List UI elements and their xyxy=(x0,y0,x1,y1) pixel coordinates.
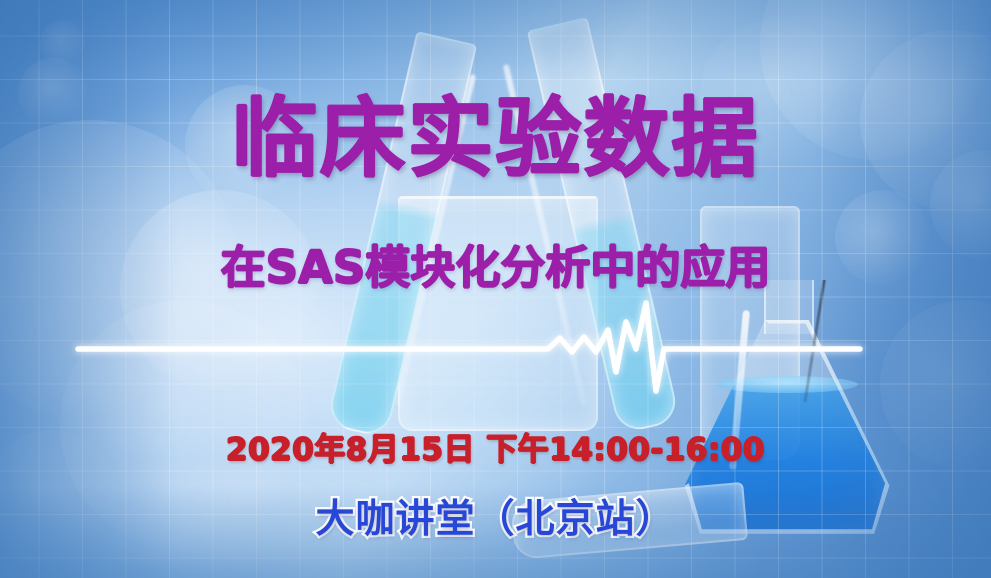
event-venue: 大咖讲堂（北京站） xyxy=(0,500,991,539)
page-title: 临床实验数据 xyxy=(0,96,991,182)
page-subtitle: 在SAS模块化分析中的应用 xyxy=(0,245,991,290)
event-date: 2020年8月15日 下午14:00-16:00 xyxy=(0,435,991,466)
webinar-poster: 临床实验数据 在SAS模块化分析中的应用 2020年8月15日 下午14:00-… xyxy=(0,0,991,578)
